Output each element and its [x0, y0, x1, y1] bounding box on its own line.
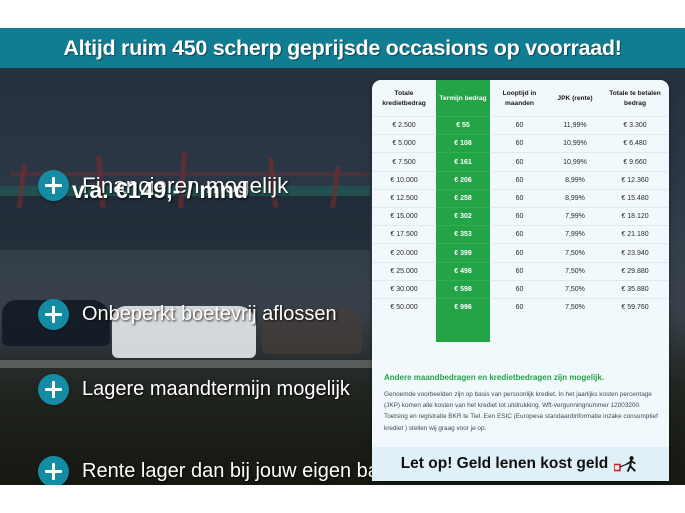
column-header-jpk: JPK (rente): [549, 80, 601, 117]
table-cell: € 353: [436, 226, 490, 244]
table-cell: 60: [490, 280, 549, 298]
feature-label: Rente lager dan bij jouw eigen bank: [82, 460, 400, 483]
table-row: € 15.000€ 302607,99%€ 18.120: [372, 208, 669, 226]
table-cell: 60: [490, 226, 549, 244]
table-cell: € 12.500: [372, 189, 436, 207]
table-cell: 60: [490, 298, 549, 316]
table-cell: € 7.500: [372, 153, 436, 171]
footer-heading: Andere maandbedragen en kredietbedragen …: [384, 373, 659, 382]
table-cell: € 9.660: [601, 153, 669, 171]
table-cell: € 498: [436, 262, 490, 280]
feature-item-boetevrij-aflossen: Onbeperkt boetevrij aflossen: [38, 299, 337, 330]
table-cell: 60: [490, 117, 549, 135]
table-cell: € 161: [436, 153, 490, 171]
warning-text: Let op! Geld lenen kost geld: [401, 455, 609, 473]
feature-item-lagere-maandtermijn: Lagere maandtermijn mogelijk: [38, 374, 350, 405]
headline-text: Altijd ruim 450 scherp geprijsde occasio…: [63, 36, 621, 61]
column-header-looptijd: Looptijd in maanden: [490, 80, 549, 117]
table-cell: 7,50%: [549, 262, 601, 280]
table-cell: 11,99%: [549, 117, 601, 135]
table-cell: € 55: [436, 117, 490, 135]
table-row: € 5.000€ 1086010,99%€ 6.480: [372, 135, 669, 153]
table-cell: 8,99%: [549, 189, 601, 207]
table-cell: € 15.480: [601, 189, 669, 207]
table-cell: € 996: [436, 298, 490, 316]
table-cell: 8,99%: [549, 171, 601, 189]
financing-table-card: Totale kredietbedrag Termijn bedrag Loop…: [372, 80, 669, 480]
table-row: € 17.500€ 353607,99%€ 21.180: [372, 226, 669, 244]
table-row: € 7.500€ 1616010,99%€ 9.660: [372, 153, 669, 171]
table-cell: 7,50%: [549, 298, 601, 316]
table-row: € 20.000€ 399607,50%€ 23.940: [372, 244, 669, 262]
table-cell: 7,50%: [549, 280, 601, 298]
table-cell: € 598: [436, 280, 490, 298]
table-body: € 2.500€ 556011,99%€ 3.300€ 5.000€ 10860…: [372, 117, 669, 317]
feature-item-rente-lager: Rente lager dan bij jouw eigen bank: [38, 456, 400, 485]
table-cell: € 399: [436, 244, 490, 262]
table-cell: € 59.760: [601, 298, 669, 316]
credit-warning-strip: Let op! Geld lenen kost geld: [372, 447, 669, 481]
table-cell: 60: [490, 189, 549, 207]
table-cell: € 25.000: [372, 262, 436, 280]
table-cell: 60: [490, 153, 549, 171]
person-pulling-block-icon: [614, 455, 640, 473]
column-header-totale-kredietbedrag: Totale kredietbedrag: [372, 80, 436, 117]
table-cell: € 17.500: [372, 226, 436, 244]
column-header-totale-te-betalen: Totale te betalen bedrag: [601, 80, 669, 117]
table-cell: € 21.180: [601, 226, 669, 244]
footer-disclaimer: Genoemde voorbeelden zijn op basis van p…: [384, 389, 659, 434]
table-cell: € 10.000: [372, 171, 436, 189]
table-cell: € 108: [436, 135, 490, 153]
table-cell: 60: [490, 135, 549, 153]
table-cell: 7,99%: [549, 208, 601, 226]
table-cell: € 2.500: [372, 117, 436, 135]
table-cell: € 35.880: [601, 280, 669, 298]
table-cell: 10,99%: [549, 153, 601, 171]
table-cell: € 5.000: [372, 135, 436, 153]
plus-circle-icon: [38, 299, 69, 330]
table-cell: 7,99%: [549, 226, 601, 244]
table-cell: € 15.000: [372, 208, 436, 226]
plus-circle-icon: [38, 170, 69, 201]
table-cell: € 3.300: [601, 117, 669, 135]
table-cell: € 20.000: [372, 244, 436, 262]
table-cell: 10,99%: [549, 135, 601, 153]
feature-list: Financieren mogelijk v.a. €149,- / mnd O…: [0, 136, 372, 485]
table-row: € 30.000€ 598607,50%€ 35.880: [372, 280, 669, 298]
table-header-row: Totale kredietbedrag Termijn bedrag Loop…: [372, 80, 669, 117]
card-footer: Andere maandbedragen en kredietbedragen …: [384, 373, 659, 434]
table-cell: 60: [490, 171, 549, 189]
table-cell: € 30.000: [372, 280, 436, 298]
table-cell: € 6.480: [601, 135, 669, 153]
column-header-termijn-bedrag: Termijn bedrag: [436, 80, 490, 117]
advertisement-banner: Altijd ruim 450 scherp geprijsde occasio…: [0, 0, 685, 513]
table-cell: € 23.940: [601, 244, 669, 262]
table-cell: 60: [490, 208, 549, 226]
table-row: € 2.500€ 556011,99%€ 3.300: [372, 117, 669, 135]
table-cell: € 50.000: [372, 298, 436, 316]
feature-label: Lagere maandtermijn mogelijk: [82, 378, 350, 401]
table-row: € 10.000€ 206608,99%€ 12.360: [372, 171, 669, 189]
headline-banner: Altijd ruim 450 scherp geprijsde occasio…: [0, 28, 685, 68]
table-row: € 25.000€ 498607,50%€ 29.880: [372, 262, 669, 280]
table-cell: € 302: [436, 208, 490, 226]
table-cell: € 258: [436, 189, 490, 207]
feature-sublabel-monthly-price: v.a. €149,- / mnd: [72, 177, 248, 204]
table-cell: € 29.880: [601, 262, 669, 280]
table-row: € 12.500€ 258608,99%€ 15.480: [372, 189, 669, 207]
table-cell: 60: [490, 262, 549, 280]
table-cell: 60: [490, 244, 549, 262]
plus-circle-icon: [38, 374, 69, 405]
table-cell: € 206: [436, 171, 490, 189]
financing-table: Totale kredietbedrag Termijn bedrag Loop…: [372, 80, 669, 316]
plus-circle-icon: [38, 456, 69, 485]
table-row: € 50.000€ 996607,50%€ 59.760: [372, 298, 669, 316]
table-cell: 7,50%: [549, 244, 601, 262]
table-cell: € 12.360: [601, 171, 669, 189]
feature-label: Onbeperkt boetevrij aflossen: [82, 303, 337, 326]
table-cell: € 18.120: [601, 208, 669, 226]
